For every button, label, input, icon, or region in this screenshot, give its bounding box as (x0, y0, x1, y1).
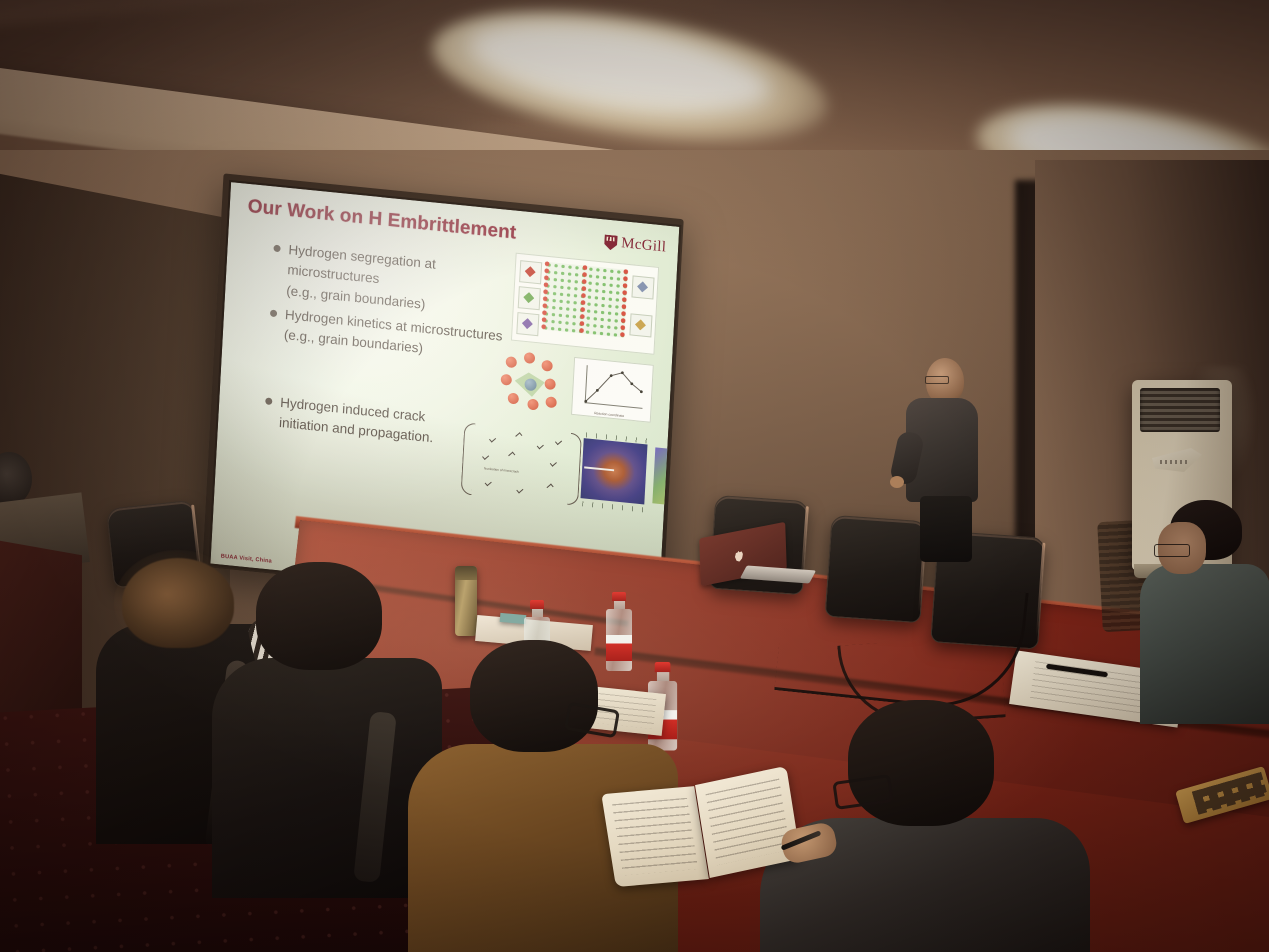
handwriting (706, 779, 790, 865)
mcgill-wordmark: McGill (621, 235, 667, 256)
presenter (898, 358, 990, 558)
conference-room-photo: Our Work on H Embrittlement McGill Hydro… (0, 0, 1269, 952)
bottle-neck (532, 609, 543, 617)
slide-bullet-3-text: Hydrogen induced crack initiation and pr… (279, 393, 435, 449)
ac-vent-grille (1140, 388, 1220, 432)
brace-left-icon (461, 422, 476, 495)
presenter-legs (920, 496, 972, 562)
atom (527, 398, 539, 410)
attendee-right-glasses (1154, 544, 1190, 557)
attendee-right (1140, 500, 1269, 720)
atom (544, 378, 556, 390)
atom (501, 374, 513, 386)
crack-annotation: Nucleation of microcrack (484, 466, 519, 473)
dislocation-icon (485, 479, 492, 486)
callout-right-1 (631, 275, 654, 299)
dislocation-icon (537, 442, 544, 449)
slide-bullet-3: Hydrogen induced crack initiation and pr… (264, 391, 445, 449)
notebook-left-page (601, 786, 709, 887)
dislocation-icon (515, 432, 522, 439)
dislocation-icon (489, 436, 496, 443)
figure-crack-schematic: Nucleation of microcrack (460, 418, 582, 508)
handwriting (612, 798, 697, 875)
presenter-hand-with-clicker (890, 476, 904, 488)
attendee-tan-jacket-head (470, 640, 598, 752)
dislocation-icon (550, 460, 557, 467)
slide-title: Our Work on H Embrittlement (247, 196, 517, 245)
atom (541, 360, 553, 372)
dislocation-icon (482, 453, 489, 460)
atom (545, 396, 557, 408)
callout-otp (516, 312, 539, 336)
attendee-right-body (1140, 564, 1269, 724)
dislocation-icon (516, 487, 523, 494)
dislocation-icon (555, 438, 562, 445)
figure-energy-barrier-curve: Reaction coordinate (571, 357, 654, 423)
thermos-flask[interactable] (455, 566, 477, 636)
figure-atomic-cluster (499, 350, 572, 419)
apple-logo-icon (734, 550, 743, 563)
callout-right-2 (629, 313, 652, 337)
dislocation-icon (547, 484, 554, 491)
attendee-backpack-head (256, 562, 382, 670)
callout-fcc (519, 260, 542, 284)
notebook-right-page (695, 766, 801, 878)
figure-simulation-heatmaps (580, 432, 681, 518)
bottle-cap (530, 600, 544, 609)
ac-control-panel[interactable] (1152, 448, 1202, 472)
bullet-dot-icon (273, 245, 280, 253)
figure-grain-boundary-lattice (511, 253, 659, 355)
attendee-note-taker-head (848, 700, 994, 826)
atom (508, 392, 520, 404)
presenter-glasses (925, 376, 949, 384)
bottle-neck (614, 601, 625, 609)
mcgill-logo: McGill (604, 233, 667, 256)
atom (524, 352, 536, 364)
bullet-dot-icon (270, 309, 277, 317)
bullet-dot-icon (265, 397, 272, 405)
dislocation-icon (508, 452, 515, 459)
callout-hcp (518, 286, 541, 310)
shield-icon (604, 234, 618, 250)
atom (505, 356, 517, 368)
bottle-cap (612, 592, 626, 601)
